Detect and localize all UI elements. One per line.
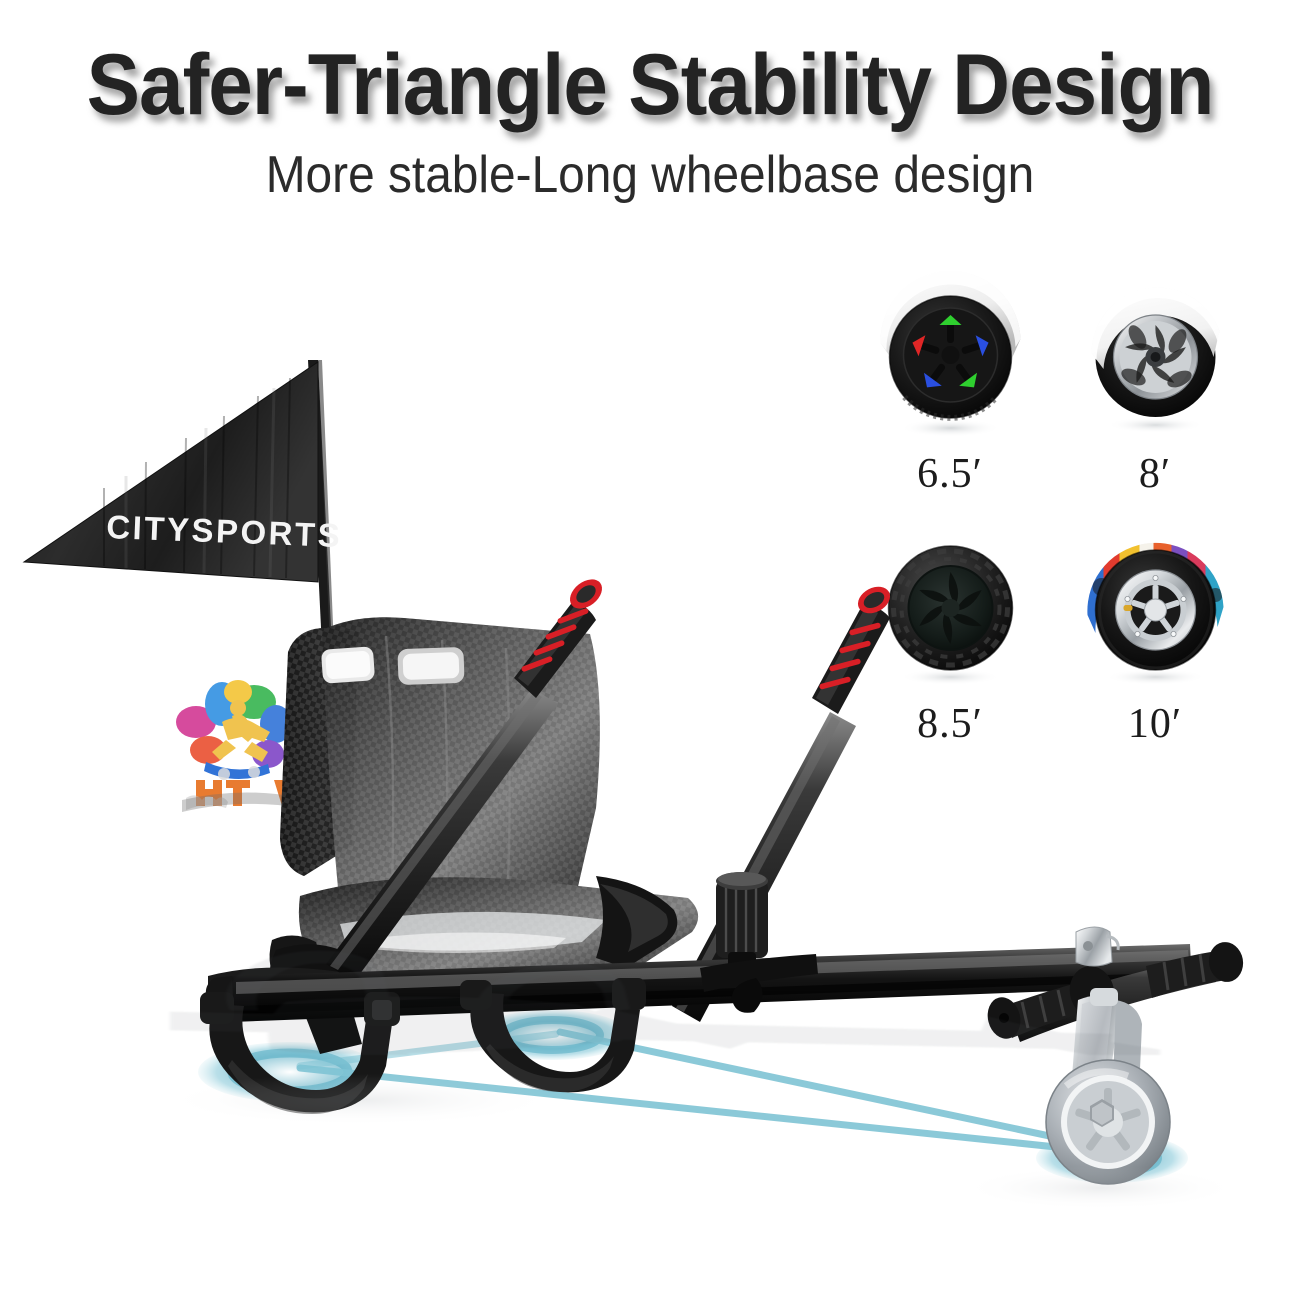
product-marketing-banner: Safer-Triangle Stability Design More sta… (0, 0, 1300, 1300)
page-title: Safer-Triangle Stability Design (46, 36, 1255, 135)
right-handle-grip[interactable] (812, 581, 895, 714)
product-illustration: CITYSPORTS (0, 300, 1300, 1300)
page-subtitle: More stable-Long wheelbase design (52, 145, 1248, 205)
